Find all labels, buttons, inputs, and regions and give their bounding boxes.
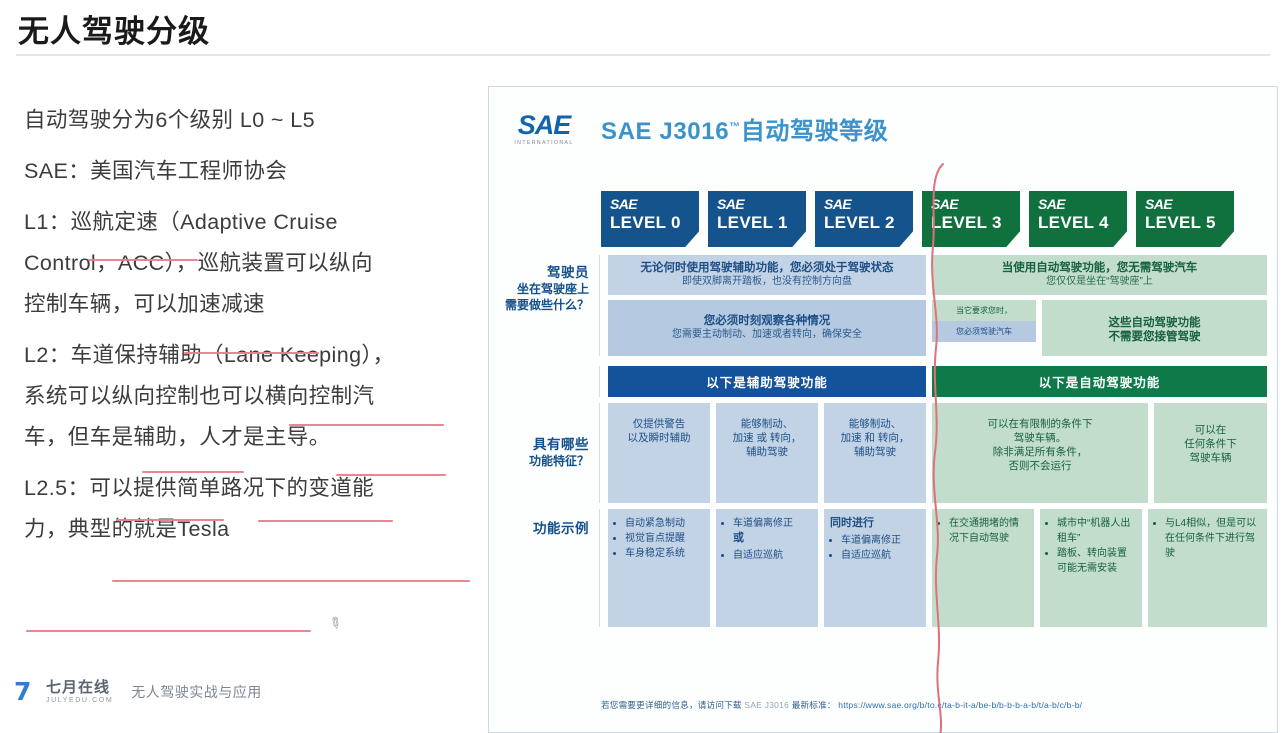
level-badge-2: SAE LEVEL 2 — [815, 191, 913, 247]
features-cell-l1: 能够制动、 加速 或 转向， 辅助驾驶 — [716, 403, 818, 503]
driver-cell-no-takeover: 这些自动驾驶功能 不需要您接管驾驶 — [1042, 300, 1267, 356]
example-header: 同时进行 — [830, 516, 920, 531]
l3-note-blue: 您必须驾驶汽车 — [932, 321, 1036, 342]
chart-title-standard: SAE J3016 — [601, 118, 729, 145]
cell-strong-text: 当使用自动驾驶功能，您无需驾驶汽车 — [937, 261, 1262, 275]
cell-text: 驾驶车辆 — [1159, 451, 1262, 465]
example-item: 城市中“机器人出租车” — [1057, 516, 1136, 546]
level-badge-0: SAE LEVEL 0 — [601, 191, 699, 247]
handwritten-underline — [336, 474, 446, 476]
chart-title: SAE J3016™自动驾驶等级 — [601, 111, 888, 146]
example-item: 车道偏离修正 — [841, 533, 920, 548]
brand-name-cn: 七月在线 — [46, 680, 113, 695]
cell-text: 除非满足所有条件， — [937, 445, 1143, 459]
row-label-features: 具有哪些 功能特征？ — [501, 403, 599, 469]
footnote-prefix: 若您需要更详细的信息，请访问下载 — [601, 700, 742, 710]
cell-sub-text: 您仅仅是坐在“驾驶座”上 — [937, 275, 1262, 289]
driver-cell-l3-note: 当它要求您时， 您必须驾驶汽车 — [932, 300, 1036, 356]
cell-text: 否则不会运行 — [937, 459, 1143, 473]
examples-cell-l5: 与L4相似，但是可以在任何条件下进行驾驶 — [1148, 509, 1267, 627]
cell-sub-text: 您需要主动制动、加速或者转向，确保安全 — [613, 328, 921, 342]
footnote-mid: 最新标准： — [792, 700, 836, 710]
handwritten-underline — [26, 630, 311, 632]
sae-mark: SAE — [931, 197, 1020, 212]
handwritten-underline — [184, 352, 319, 354]
driver-cell-l0-l2: 无论何时使用驾驶辅助功能，您必须处于驾驶状态 即使双脚离开踏板，也没有控制方向盘 — [608, 255, 926, 295]
handwritten-underline — [88, 259, 198, 261]
handwritten-underline — [112, 580, 470, 582]
examples-cell-l3: 在交通拥堵的情况下自动驾驶 — [932, 509, 1034, 627]
row-label-line: 坐在驾驶座上 — [501, 281, 589, 297]
cell-text: 当它要求您时， — [956, 306, 1012, 315]
chart-grid: 驾驶员 坐在驾驶座上 需要做些什么？ 无论何时使用驾驶辅助功能，您必须处于驾驶状… — [501, 255, 1267, 627]
features-cell-l0: 仅提供警告 以及瞬时辅助 — [608, 403, 710, 503]
handwritten-underline — [142, 471, 244, 473]
sae-logo-subtitle: INTERNATIONAL — [511, 140, 577, 146]
cell-strong-text: 无论何时使用驾驶辅助功能，您必须处于驾驶状态 — [613, 261, 921, 275]
note-line: 控制车辆，可以加速减速 — [24, 284, 484, 325]
row-driver: 驾驶员 坐在驾驶座上 需要做些什么？ 无论何时使用驾驶辅助功能，您必须处于驾驶状… — [501, 255, 1267, 356]
footer: 7 七月在线 JULYEDU.COM 无人驾驶实战与应用 — [14, 680, 262, 704]
driver-band-bottom: 您必须时刻观察各种情况 您需要主动制动、加速或者转向，确保安全 当它要求您时， … — [608, 300, 1267, 356]
level-label: LEVEL 4 — [1038, 213, 1127, 233]
example-item: 踏板、转向装置可能无需安装 — [1057, 546, 1136, 576]
level-badge-4: SAE LEVEL 4 — [1029, 191, 1127, 247]
sae-mark: SAE — [717, 197, 806, 212]
level-label: LEVEL 3 — [931, 213, 1020, 233]
note-line: 力，典型的就是Tesla — [24, 509, 484, 550]
cell-text: 辅助驾驶 — [829, 445, 921, 459]
chart-footnote: 若您需要更详细的信息，请访问下载 SAE J3016 最新标准： https:/… — [601, 699, 1265, 711]
seven-month-logo-icon: 7 — [14, 680, 36, 704]
level-badge-5: SAE LEVEL 5 — [1136, 191, 1234, 247]
note-paragraph-3: L1：巡航定速（Adaptive Cruise Control，ACC），巡航装… — [24, 202, 484, 325]
row-label-examples: 功能示例 — [501, 509, 599, 537]
footnote-link[interactable]: https://www.sae.org/b/to.c/ta-b-it-a/be-… — [838, 700, 1082, 710]
level-label: LEVEL 5 — [1145, 213, 1234, 233]
features-band: 仅提供警告 以及瞬时辅助 能够制动、 加速 或 转向， 辅助驾驶 能够制动、 加… — [608, 403, 1267, 503]
cell-text: 能够制动、 — [829, 417, 921, 431]
pencil-icon: ✎ — [327, 612, 346, 631]
handwritten-underline — [258, 520, 393, 522]
note-line: Control，ACC），巡航装置可以纵向 — [24, 243, 484, 284]
example-item: 视觉盲点提醒 — [625, 531, 704, 546]
row-examples-cells: 自动紧急制动 视觉盲点提醒 车身稳定系统 车道偏离修正 或 自适应巡航 — [599, 509, 1267, 627]
brand-block: 七月在线 JULYEDU.COM — [46, 680, 113, 704]
row-label-line: 驾驶员 — [501, 265, 589, 281]
chart-title-cn: 自动驾驶等级 — [741, 118, 889, 145]
example-item: 与L4相似，但是可以在任何条件下进行驾驶 — [1165, 516, 1261, 561]
row-section-bars: 以下是辅助驾驶功能 以下是自动驾驶功能 — [501, 366, 1267, 397]
cell-text: 加速 或 转向， — [721, 431, 813, 445]
section-bar-assist: 以下是辅助驾驶功能 — [608, 366, 926, 397]
chart-header: SAE INTERNATIONAL SAE J3016™自动驾驶等级 — [511, 111, 888, 146]
cell-strong-text: 您必须时刻观察各种情况 — [613, 314, 921, 328]
features-cell-l2: 能够制动、 加速 和 转向， 辅助驾驶 — [824, 403, 926, 503]
features-cell-l3-l4: 可以在有限制的条件下 驾驶车辆。 除非满足所有条件， 否则不会运行 — [932, 403, 1148, 503]
sae-mark: SAE — [824, 197, 913, 212]
note-paragraph-2: SAE：美国汽车工程师协会 — [24, 151, 484, 192]
row-label-line: 功能示例 — [501, 521, 589, 537]
examples-cell-l4: 城市中“机器人出租车” 踏板、转向装置可能无需安装 — [1040, 509, 1142, 627]
note-line: SAE：美国汽车工程师协会 — [24, 151, 484, 192]
cell-strong-text: 不需要您接管驾驶 — [1047, 330, 1262, 344]
example-item: 车身稳定系统 — [625, 546, 704, 561]
level-label: LEVEL 0 — [610, 213, 699, 233]
handwritten-underline — [116, 519, 224, 521]
example-conjunction: 或 — [722, 531, 812, 546]
cell-text: 能够制动、 — [721, 417, 813, 431]
driver-cell-observe: 您必须时刻观察各种情况 您需要主动制动、加速或者转向，确保安全 — [608, 300, 926, 356]
note-paragraph-1: 自动驾驶分为6个级别 L0 ~ L5 — [24, 100, 484, 141]
example-item: 在交通拥堵的情况下自动驾驶 — [949, 516, 1028, 546]
level-badge-3: SAE LEVEL 3 — [922, 191, 1020, 247]
trademark-icon: ™ — [729, 121, 741, 133]
cell-text: 辅助驾驶 — [721, 445, 813, 459]
section-bar-automated: 以下是自动驾驶功能 — [932, 366, 1267, 397]
example-item: 车道偏离修正 — [733, 516, 812, 531]
row-driver-cells: 无论何时使用驾驶辅助功能，您必须处于驾驶状态 即使双脚离开踏板，也没有控制方向盘… — [599, 255, 1267, 356]
l3-note-green: 当它要求您时， — [932, 300, 1036, 321]
section-bar-cells: 以下是辅助驾驶功能 以下是自动驾驶功能 — [599, 366, 1267, 397]
row-label-line: 功能特征？ — [501, 453, 589, 469]
note-line: 系统可以纵向控制也可以横向控制汽 — [24, 376, 484, 417]
cell-text: 仅提供警告 — [613, 417, 705, 431]
example-item: 自适应巡航 — [841, 548, 920, 563]
handwritten-underline — [289, 424, 444, 426]
driver-cell-l3-l5: 当使用自动驾驶功能，您无需驾驶汽车 您仅仅是坐在“驾驶座”上 — [932, 255, 1267, 295]
level-label: LEVEL 1 — [717, 213, 806, 233]
sae-logo-mark: SAE — [511, 112, 577, 138]
cell-sub-text: 即使双脚离开踏板，也没有控制方向盘 — [613, 275, 921, 289]
example-item: 自动紧急制动 — [625, 516, 704, 531]
note-line: 自动驾驶分为6个级别 L0 ~ L5 — [24, 100, 484, 141]
sae-mark: SAE — [610, 197, 699, 212]
level-badge-1: SAE LEVEL 1 — [708, 191, 806, 247]
cell-text: 加速 和 转向， — [829, 431, 921, 445]
row-examples: 功能示例 自动紧急制动 视觉盲点提醒 车身稳定系统 车道偏离修正 — [501, 509, 1267, 627]
example-item: 自适应巡航 — [733, 548, 812, 563]
cell-text: 任何条件下 — [1159, 437, 1262, 451]
level-badge-row: SAE LEVEL 0 SAE LEVEL 1 SAE LEVEL 2 SAE … — [601, 191, 1265, 247]
row-label-line: 具有哪些 — [501, 437, 589, 453]
cell-strong-text: 这些自动驾驶功能 — [1047, 316, 1262, 330]
footnote-standard: SAE J3016 — [744, 700, 789, 710]
cell-text: 可以在有限制的条件下 — [937, 417, 1143, 431]
note-line: L1：巡航定速（Adaptive Cruise — [24, 202, 484, 243]
brand-name-en: JULYEDU.COM — [46, 697, 113, 704]
features-cell-l5: 可以在 任何条件下 驾驶车辆 — [1154, 403, 1267, 503]
note-line: L2：车道保持辅助（Lane Keeping）， — [24, 335, 484, 376]
cell-text: 可以在 — [1159, 423, 1262, 437]
sae-mark: SAE — [1145, 197, 1234, 212]
section-bar-band: 以下是辅助驾驶功能 以下是自动驾驶功能 — [608, 366, 1267, 397]
sae-mark: SAE — [1038, 197, 1127, 212]
driver-band-top: 无论何时使用驾驶辅助功能，您必须处于驾驶状态 即使双脚离开踏板，也没有控制方向盘… — [608, 255, 1267, 295]
examples-cell-l2: 同时进行 车道偏离修正 自适应巡航 — [824, 509, 926, 627]
course-name: 无人驾驶实战与应用 — [131, 682, 262, 702]
row-label-driver: 驾驶员 坐在驾驶座上 需要做些什么？ — [501, 255, 599, 313]
sae-logo-icon: SAE INTERNATIONAL — [511, 112, 577, 146]
cell-text: 驾驶车辆。 — [937, 431, 1143, 445]
row-features: 具有哪些 功能特征？ 仅提供警告 以及瞬时辅助 能够制动、 加速 或 转向， 辅… — [501, 403, 1267, 503]
examples-band: 自动紧急制动 视觉盲点提醒 车身稳定系统 车道偏离修正 或 自适应巡航 — [608, 509, 1267, 627]
cell-text: 以及瞬时辅助 — [613, 431, 705, 445]
page-title: 无人驾驶分级 — [18, 6, 210, 51]
level-label: LEVEL 2 — [824, 213, 913, 233]
sae-j3016-chart: SAE INTERNATIONAL SAE J3016™自动驾驶等级 SAE L… — [488, 86, 1278, 733]
examples-cell-l0: 自动紧急制动 视觉盲点提醒 车身稳定系统 — [608, 509, 710, 627]
title-divider — [16, 54, 1270, 56]
examples-cell-l1: 车道偏离修正 或 自适应巡航 — [716, 509, 818, 627]
lecture-notes: 自动驾驶分为6个级别 L0 ~ L5 SAE：美国汽车工程师协会 L1：巡航定速… — [24, 100, 484, 560]
row-features-cells: 仅提供警告 以及瞬时辅助 能够制动、 加速 或 转向， 辅助驾驶 能够制动、 加… — [599, 403, 1267, 503]
note-paragraph-5: L2.5：可以提供简单路况下的变道能 力，典型的就是Tesla — [24, 468, 484, 550]
cell-text: 您必须驾驶汽车 — [956, 327, 1012, 336]
row-label-line: 需要做些什么？ — [501, 297, 589, 313]
